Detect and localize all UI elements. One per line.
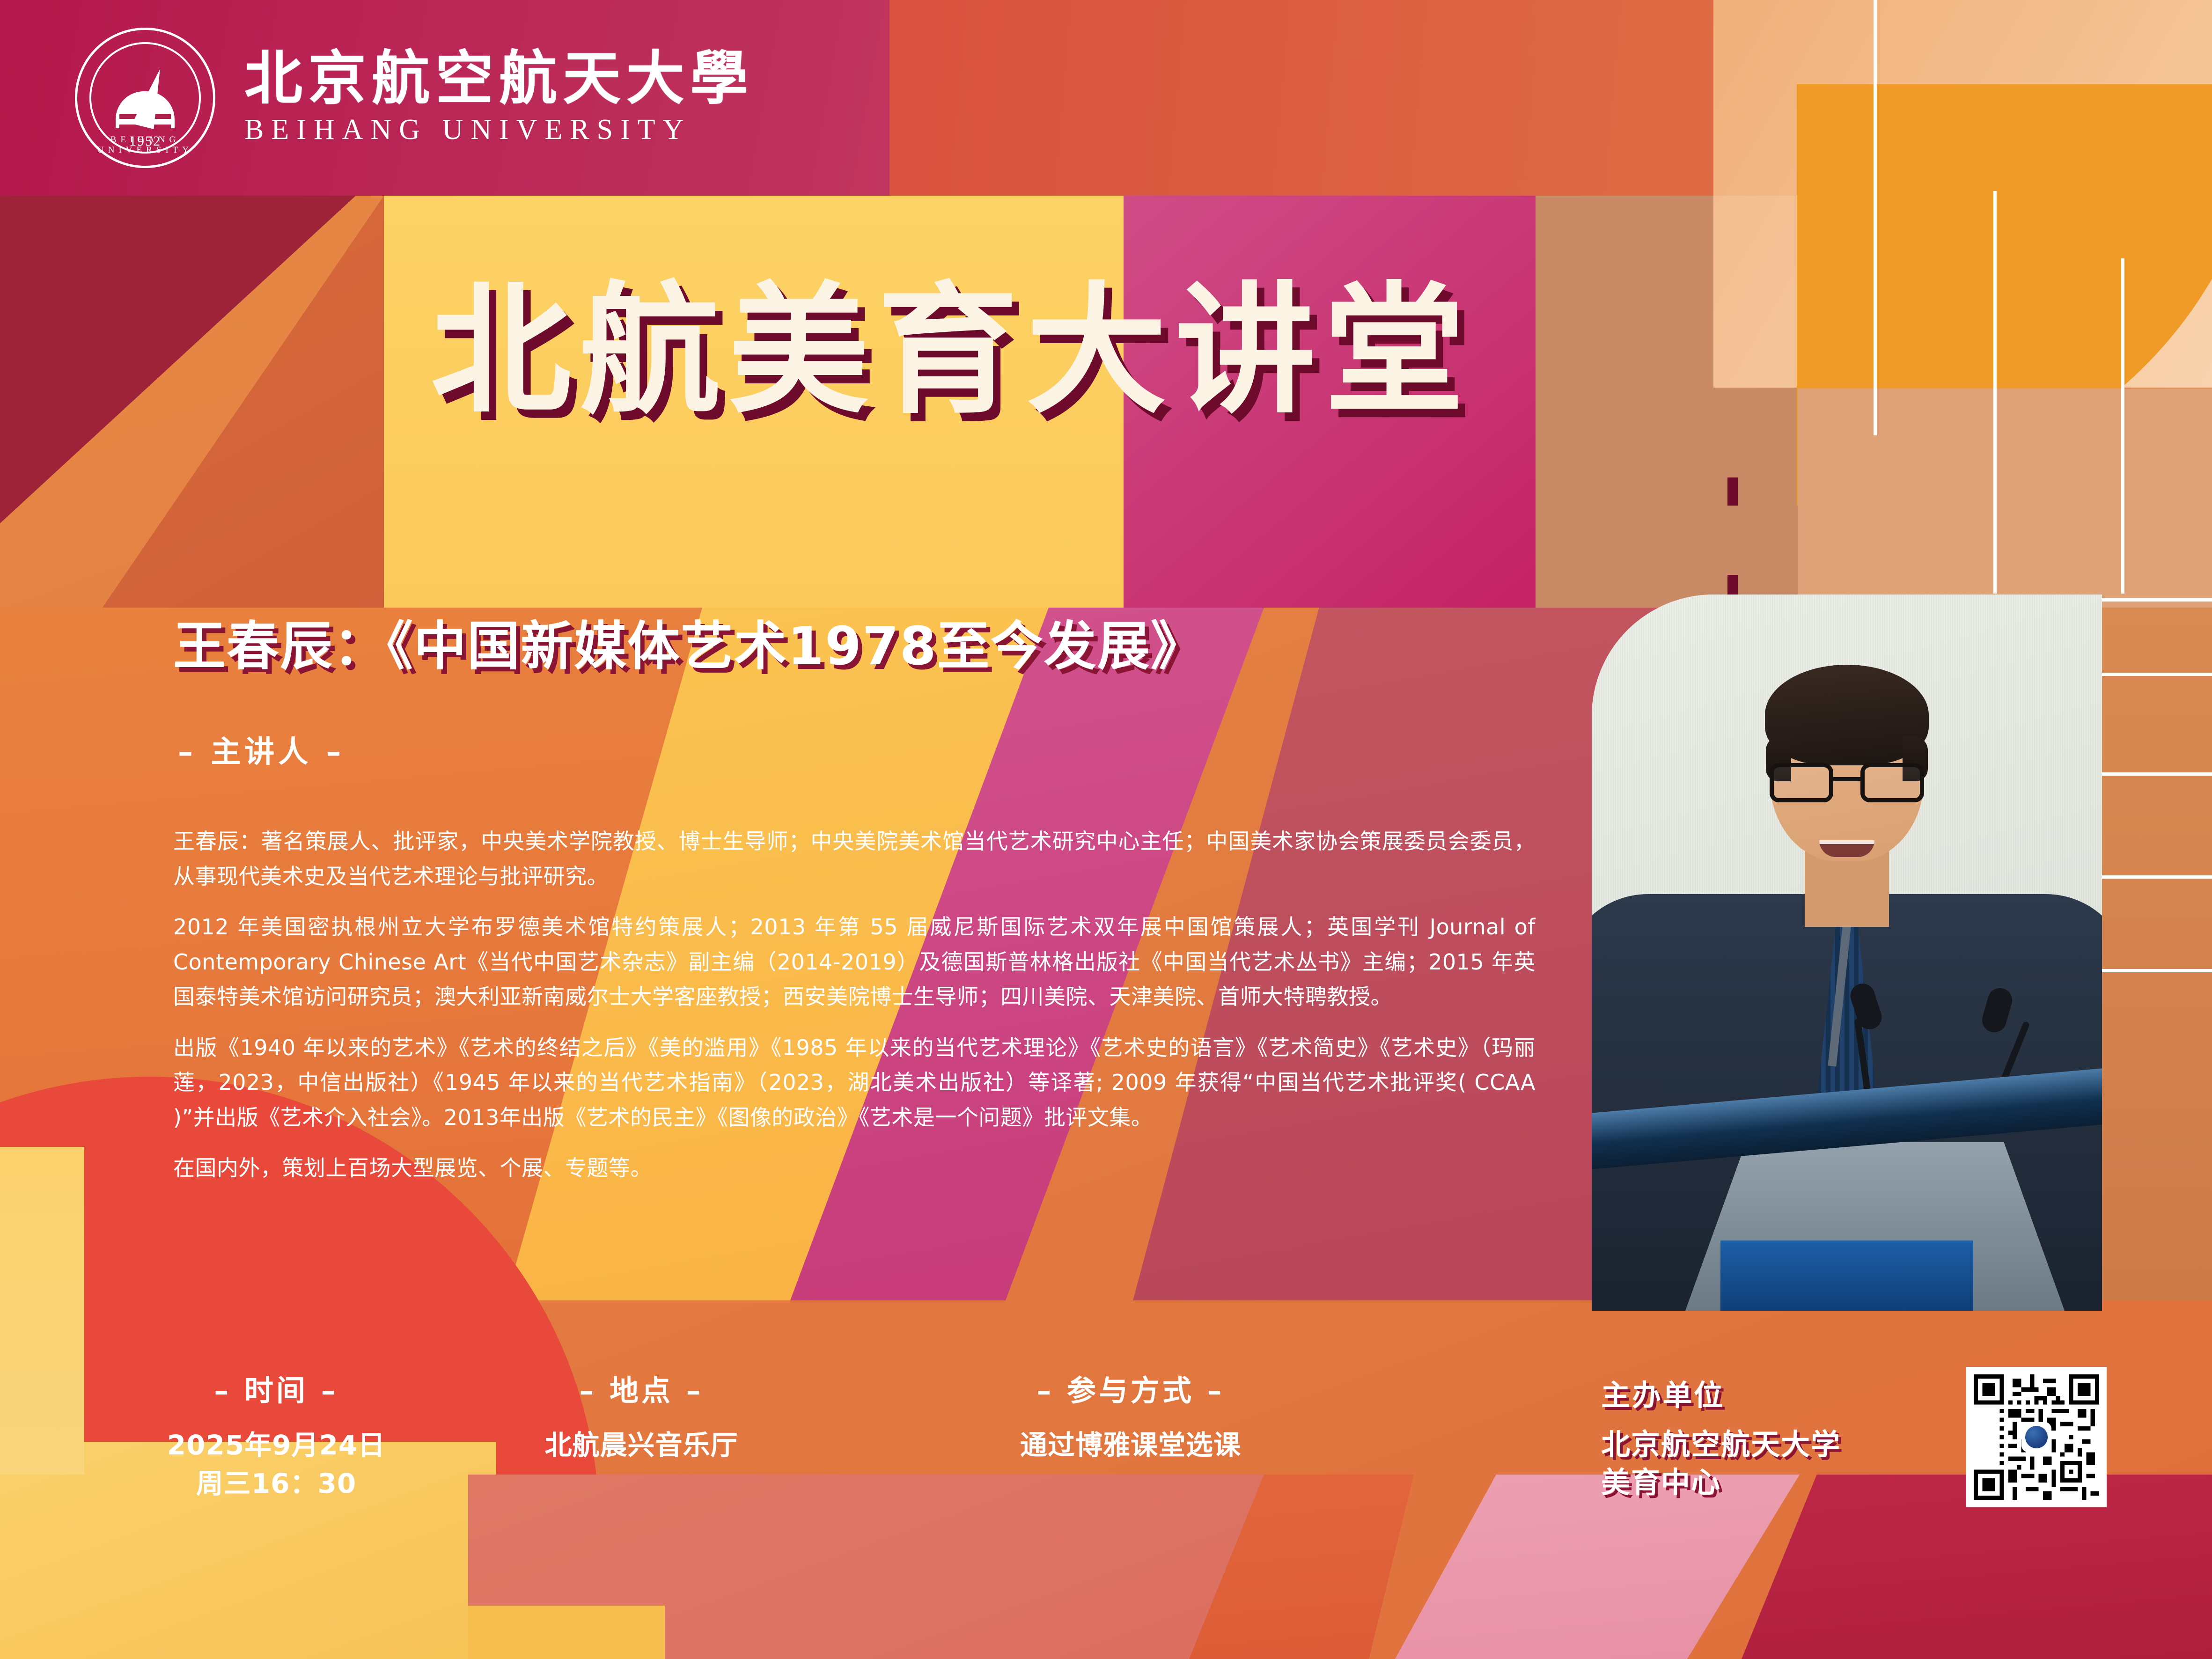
lecture-subtitle: 王春辰：《中国新媒体艺术1978至今发展》 [173, 604, 1204, 680]
poster-root: 1952 BEIHANG UNIVERSITY 北京航空航天大學 BEIHANG… [0, 0, 2212, 1659]
speaker-bio: 王春辰：著名策展人、批评家，中央美术学院教授、博士生导师；中央美院美术馆当代艺术… [173, 824, 1536, 1186]
bio-paragraph-2: 2012 年美国密执根州立大学布罗德美术馆特约策展人；2013 年第 55 届威… [173, 910, 1536, 1014]
emblem-ring-text: BEIHANG UNIVERSITY [77, 135, 213, 155]
photo-hair [1765, 665, 1929, 765]
organizer-block: 主办单位 北京航空航天大学 美育中心 [1601, 1372, 1841, 1501]
organizer-name-line1: 北京航空航天大学 [1601, 1426, 1841, 1464]
bio-paragraph-1: 王春辰：著名策展人、批评家，中央美术学院教授、博士生导师；中央美院美术馆当代艺术… [173, 824, 1536, 894]
info-time: – 时间 – 2025年9月24日 周三16：30 [154, 1367, 398, 1503]
page-title: 北航美育大讲堂 [431, 281, 1473, 421]
info-time-clock: 周三16：30 [154, 1464, 398, 1503]
photo-glasses-icon [1770, 763, 1924, 803]
info-join: – 参与方式 – 通过博雅课堂选课 [885, 1367, 1376, 1503]
organizer-name-line2: 美育中心 [1601, 1464, 1841, 1502]
bg-bottom-yellow-pale [0, 1147, 84, 1475]
university-name-en: BEIHANG UNIVERSITY [244, 113, 754, 147]
speaker-photo [1592, 595, 2102, 1311]
emblem-inner: 1952 [110, 56, 180, 140]
info-place: – 地点 – 北航晨兴音乐厅 [398, 1367, 885, 1503]
event-info-row: – 时间 – 2025年9月24日 周三16：30 – 地点 – 北航晨兴音乐厅… [154, 1367, 1559, 1503]
rule-accent-maroon-2 [1727, 575, 1738, 595]
bio-paragraph-4: 在国内外，策划上百场大型展览、个展、专题等。 [173, 1151, 1536, 1186]
organizer-heading: 主办单位 [1601, 1372, 1841, 1414]
photo-podium [1592, 1091, 2102, 1311]
info-join-value: 通过博雅课堂选课 [885, 1426, 1376, 1464]
info-join-heading: – 参与方式 – [885, 1367, 1376, 1409]
bio-paragraph-3: 出版《1940 年以来的艺术》《艺术的终结之后》《美的滥用》《1985 年以来的… [173, 1030, 1536, 1135]
speaker-section-label: – 主讲人 – [178, 728, 345, 771]
photo-podium-panel [1720, 1241, 1973, 1311]
info-place-value: 北航晨兴音乐厅 [398, 1426, 885, 1464]
info-time-heading: – 时间 – [154, 1367, 398, 1409]
qr-center-badge-icon [2021, 1422, 2051, 1452]
bg-noise-right [1798, 389, 2212, 609]
info-time-value: 2025年9月24日 周三16：30 [154, 1426, 398, 1503]
rule-accent-maroon-1 [1727, 477, 1738, 506]
rule-vertical-2 [1993, 191, 1997, 594]
university-wordmark: 北京航空航天大學 BEIHANG UNIVERSITY [244, 49, 754, 146]
info-place-heading: – 地点 – [398, 1367, 885, 1409]
info-time-date: 2025年9月24日 [154, 1426, 398, 1464]
qr-code[interactable] [1966, 1367, 2107, 1507]
photo-mouth [1819, 840, 1874, 857]
poster-header: 1952 BEIHANG UNIVERSITY 北京航空航天大學 BEIHANG… [0, 0, 2212, 196]
beihang-emblem-icon: 1952 BEIHANG UNIVERSITY [75, 28, 215, 168]
bg-bottom-yellow-wedge [468, 1606, 665, 1659]
university-name-cn: 北京航空航天大學 [244, 49, 754, 108]
rule-vertical-3 [2121, 258, 2124, 594]
